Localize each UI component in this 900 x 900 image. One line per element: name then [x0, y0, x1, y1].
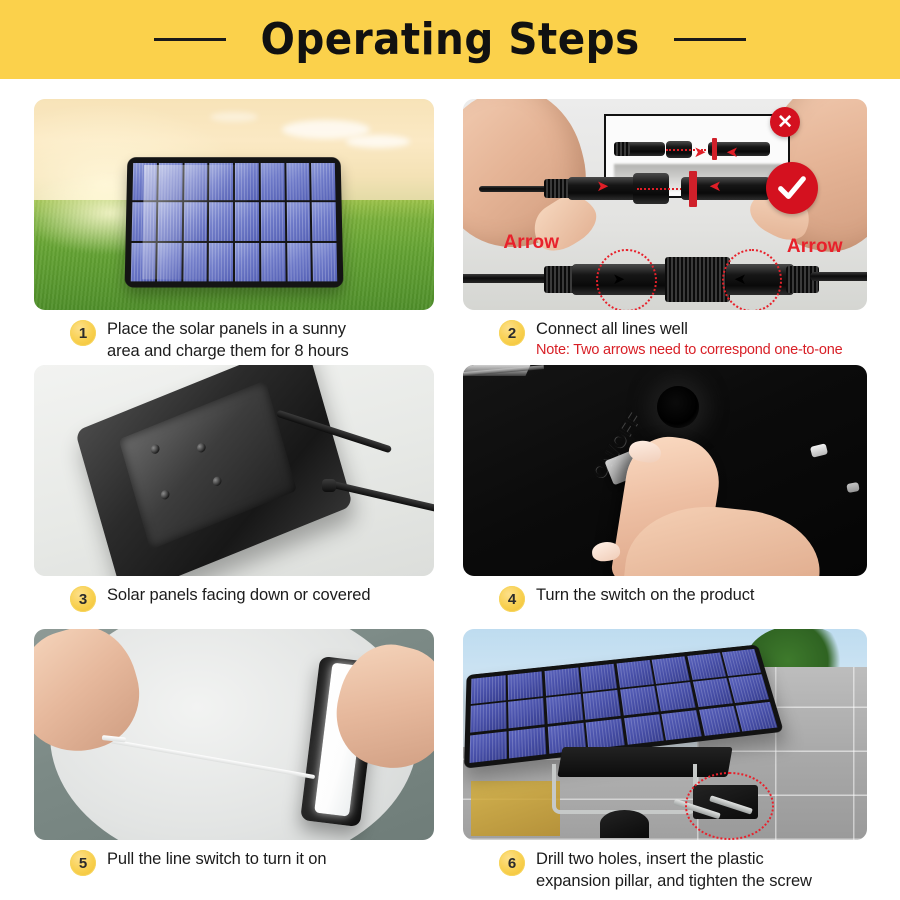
pull-cord-lamp-photo [34, 629, 434, 840]
cable-grommet [322, 479, 336, 492]
panel-back-facing-down-photo [34, 365, 434, 576]
step-caption-4: 4 Turn the switch on the product [463, 576, 867, 612]
connector-rib-inset [614, 142, 630, 156]
cloud-shape [210, 112, 258, 123]
step-caption-6: 6 Drill two holes, insert the plastic ex… [463, 840, 867, 893]
step-card-1: 1 Place the solar panels in a sunny area… [34, 99, 434, 363]
cable-left-bottom [463, 274, 552, 283]
step-text-line1: Solar panels facing down or covered [107, 585, 370, 607]
step-card-6: 6 Drill two holes, insert the plastic ex… [463, 629, 867, 893]
screw-highlight-circle [685, 772, 774, 839]
solar-cell-grid [131, 163, 337, 281]
arrow-label-right: Arrow [787, 236, 843, 258]
red-arrow-left-middle: ➤ [709, 179, 722, 194]
step-card-4: ON/OFF 4 Turn the switch on the product [463, 365, 867, 612]
step-text-line1: Pull the line switch to turn it on [107, 849, 326, 871]
step-caption-2: 2 Connect all lines well Note: Two arrow… [463, 310, 867, 360]
mounting-bracket [552, 764, 697, 814]
header-banner: Operating Steps [0, 0, 900, 79]
screw-hole [160, 489, 171, 501]
step-badge-3: 3 [70, 586, 96, 612]
step-text-line2: expansion pillar, and tighten the screw [536, 871, 812, 893]
sensor-hole [657, 386, 699, 428]
black-arrow-left: ➤ [734, 272, 747, 287]
step-card-5: 5 Pull the line switch to turn it on [34, 629, 434, 876]
page-title: Operating Steps [260, 18, 639, 62]
arrow-highlight-circle-left [596, 249, 657, 310]
wall-mount-photo [463, 629, 867, 840]
solar-panel-object [125, 157, 344, 287]
red-arrow-right-middle: ➤ [596, 179, 609, 194]
on-off-switch-photo: ON/OFF [463, 365, 867, 576]
steps-grid: 1 Place the solar panels in a sunny area… [0, 79, 900, 900]
step-text-line1: Drill two holes, insert the plastic [536, 849, 812, 871]
step-text-line2: area and charge them for 8 hours [107, 341, 349, 363]
bracket-pivot [600, 810, 648, 837]
screw-hole [196, 442, 207, 454]
step-caption-3: 3 Solar panels facing down or covered [34, 576, 434, 612]
pergola-background [471, 781, 560, 836]
connector-knurled-nut [665, 257, 730, 301]
banner-rule-left [154, 38, 226, 41]
cable-right-bottom [810, 272, 867, 281]
correct-check-icon [766, 162, 818, 214]
step-card-2: ➤ ➤ ✕ ➤ ➤ Arrow Arrow ➤ [463, 99, 867, 360]
step-badge-4: 4 [499, 586, 525, 612]
cable-left-middle [479, 186, 552, 192]
step-caption-5: 5 Pull the line switch to turn it on [34, 840, 434, 876]
arrow-highlight-circle-right [722, 249, 783, 310]
arrow-label-left: Arrow [503, 232, 559, 254]
mounting-bracket-plate [119, 380, 298, 550]
screw-hole [212, 475, 223, 487]
step-card-3: 3 Solar panels facing down or covered [34, 365, 434, 612]
cloud-shape [346, 135, 410, 148]
step-text-line1: Place the solar panels in a sunny [107, 319, 349, 341]
step-text-line1: Turn the switch on the product [536, 585, 754, 607]
step-badge-2: 2 [499, 320, 525, 346]
red-arrow-left-inset: ➤ [726, 145, 739, 160]
step-text-line1: Connect all lines well [536, 319, 843, 341]
step-caption-1: 1 Place the solar panels in a sunny area… [34, 310, 434, 363]
connector-red-ring-inset [712, 138, 717, 160]
step-note: Note: Two arrows need to correspond one-… [536, 341, 843, 360]
connector-red-ring-middle [689, 171, 697, 207]
step-badge-6: 6 [499, 850, 525, 876]
step-badge-1: 1 [70, 320, 96, 346]
red-arrow-right-inset: ➤ [694, 145, 707, 160]
banner-rule-right [674, 38, 746, 41]
step-badge-5: 5 [70, 850, 96, 876]
screw-hole [150, 443, 161, 455]
cable-connector-photo: ➤ ➤ ✕ ➤ ➤ Arrow Arrow ➤ [463, 99, 867, 310]
connector-female-inset [708, 142, 770, 156]
black-arrow-right: ➤ [612, 272, 625, 287]
solar-panel-on-grass-photo [34, 99, 434, 310]
